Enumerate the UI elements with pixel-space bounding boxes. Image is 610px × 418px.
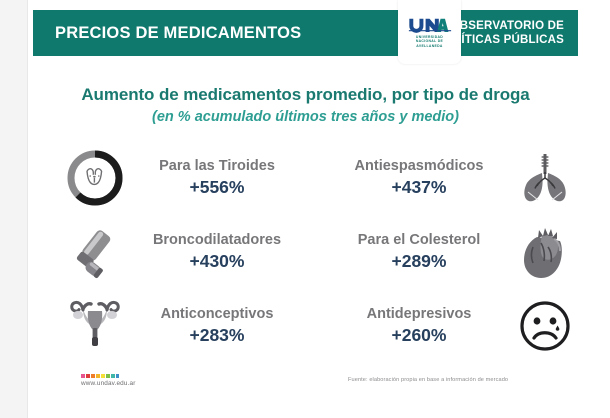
left-margin-divider: [27, 0, 28, 418]
color-swatch-3: [96, 374, 100, 378]
sad-face-icon: [512, 293, 578, 359]
undav-logo: UNIVERSIDAD NACIONAL DE AVELLANEDA: [398, 0, 461, 64]
item-label: Para el Colesterol: [358, 231, 481, 249]
color-swatch-1: [86, 374, 90, 378]
item-label: Para las Tiroides: [159, 157, 275, 175]
color-swatch-0: [81, 374, 85, 378]
item-para-el-colesterol: Para el Colesterol +289%: [320, 215, 578, 289]
item-value: +437%: [392, 176, 447, 198]
item-label: Broncodilatadores: [153, 231, 281, 249]
chart-subtitle: (en % acumulado últimos tres años y medi…: [33, 109, 578, 125]
heart-icon: [512, 219, 578, 285]
header-bar: PRECIOS DE MEDICAMENTOS OBSERVATORIO DE …: [33, 10, 578, 56]
item-antidepresivos: Antidepresivos +260%: [320, 289, 578, 363]
color-swatch-2: [91, 374, 95, 378]
observatory-line-1: OBSERVATORIO DE: [451, 19, 564, 33]
footer-source-note: Fuente: elaboración propia en base a inf…: [348, 377, 508, 383]
color-swatch-5: [106, 374, 110, 378]
chart-title: Aumento de medicamentos promedio, por ti…: [33, 85, 578, 105]
lungs-icon: [512, 145, 578, 211]
item-value: +430%: [190, 250, 245, 272]
item-text-block: Anticonceptivos +283%: [128, 305, 320, 348]
item-text-block: Antidepresivos +260%: [320, 305, 512, 348]
item-antiespasmodicos: Antiespasmódicos +437%: [320, 141, 578, 215]
footer-url[interactable]: www.undav.edu.ar: [81, 380, 136, 387]
thyroid-icon: [62, 145, 128, 211]
infographic-slide: PRECIOS DE MEDICAMENTOS OBSERVATORIO DE …: [0, 0, 610, 418]
color-swatch-strip: [81, 374, 119, 378]
item-label: Antidepresivos: [367, 305, 472, 323]
item-para-las-tiroides: Para las Tiroides +556%: [62, 141, 320, 215]
items-grid: Para las Tiroides +556%: [62, 141, 578, 363]
undav-logo-subtext: UNIVERSIDAD NACIONAL DE AVELLANEDA: [403, 35, 457, 48]
item-label: Anticonceptivos: [161, 305, 274, 323]
item-anticonceptivos: Anticonceptivos +283%: [62, 289, 320, 363]
undav-wordmark-icon: [408, 16, 452, 33]
uterus-icon: [62, 293, 128, 359]
item-value: +289%: [392, 250, 447, 272]
item-value: +283%: [190, 324, 245, 346]
item-label: Antiespasmódicos: [355, 157, 484, 175]
item-text-block: Antiespasmódicos +437%: [320, 157, 512, 200]
page-title: PRECIOS DE MEDICAMENTOS: [55, 10, 301, 56]
color-swatch-4: [101, 374, 105, 378]
color-swatch-6: [111, 374, 115, 378]
item-text-block: Para las Tiroides +556%: [128, 157, 320, 200]
item-text-block: Para el Colesterol +289%: [320, 231, 512, 274]
item-value: +260%: [392, 324, 447, 346]
inhaler-icon: [62, 219, 128, 285]
undav-sub-line-3: AVELLANEDA: [403, 44, 457, 48]
item-text-block: Broncodilatadores +430%: [128, 231, 320, 274]
item-broncodilatadores: Broncodilatadores +430%: [62, 215, 320, 289]
color-swatch-7: [116, 374, 120, 378]
item-value: +556%: [190, 176, 245, 198]
left-margin-strip: [0, 0, 28, 418]
